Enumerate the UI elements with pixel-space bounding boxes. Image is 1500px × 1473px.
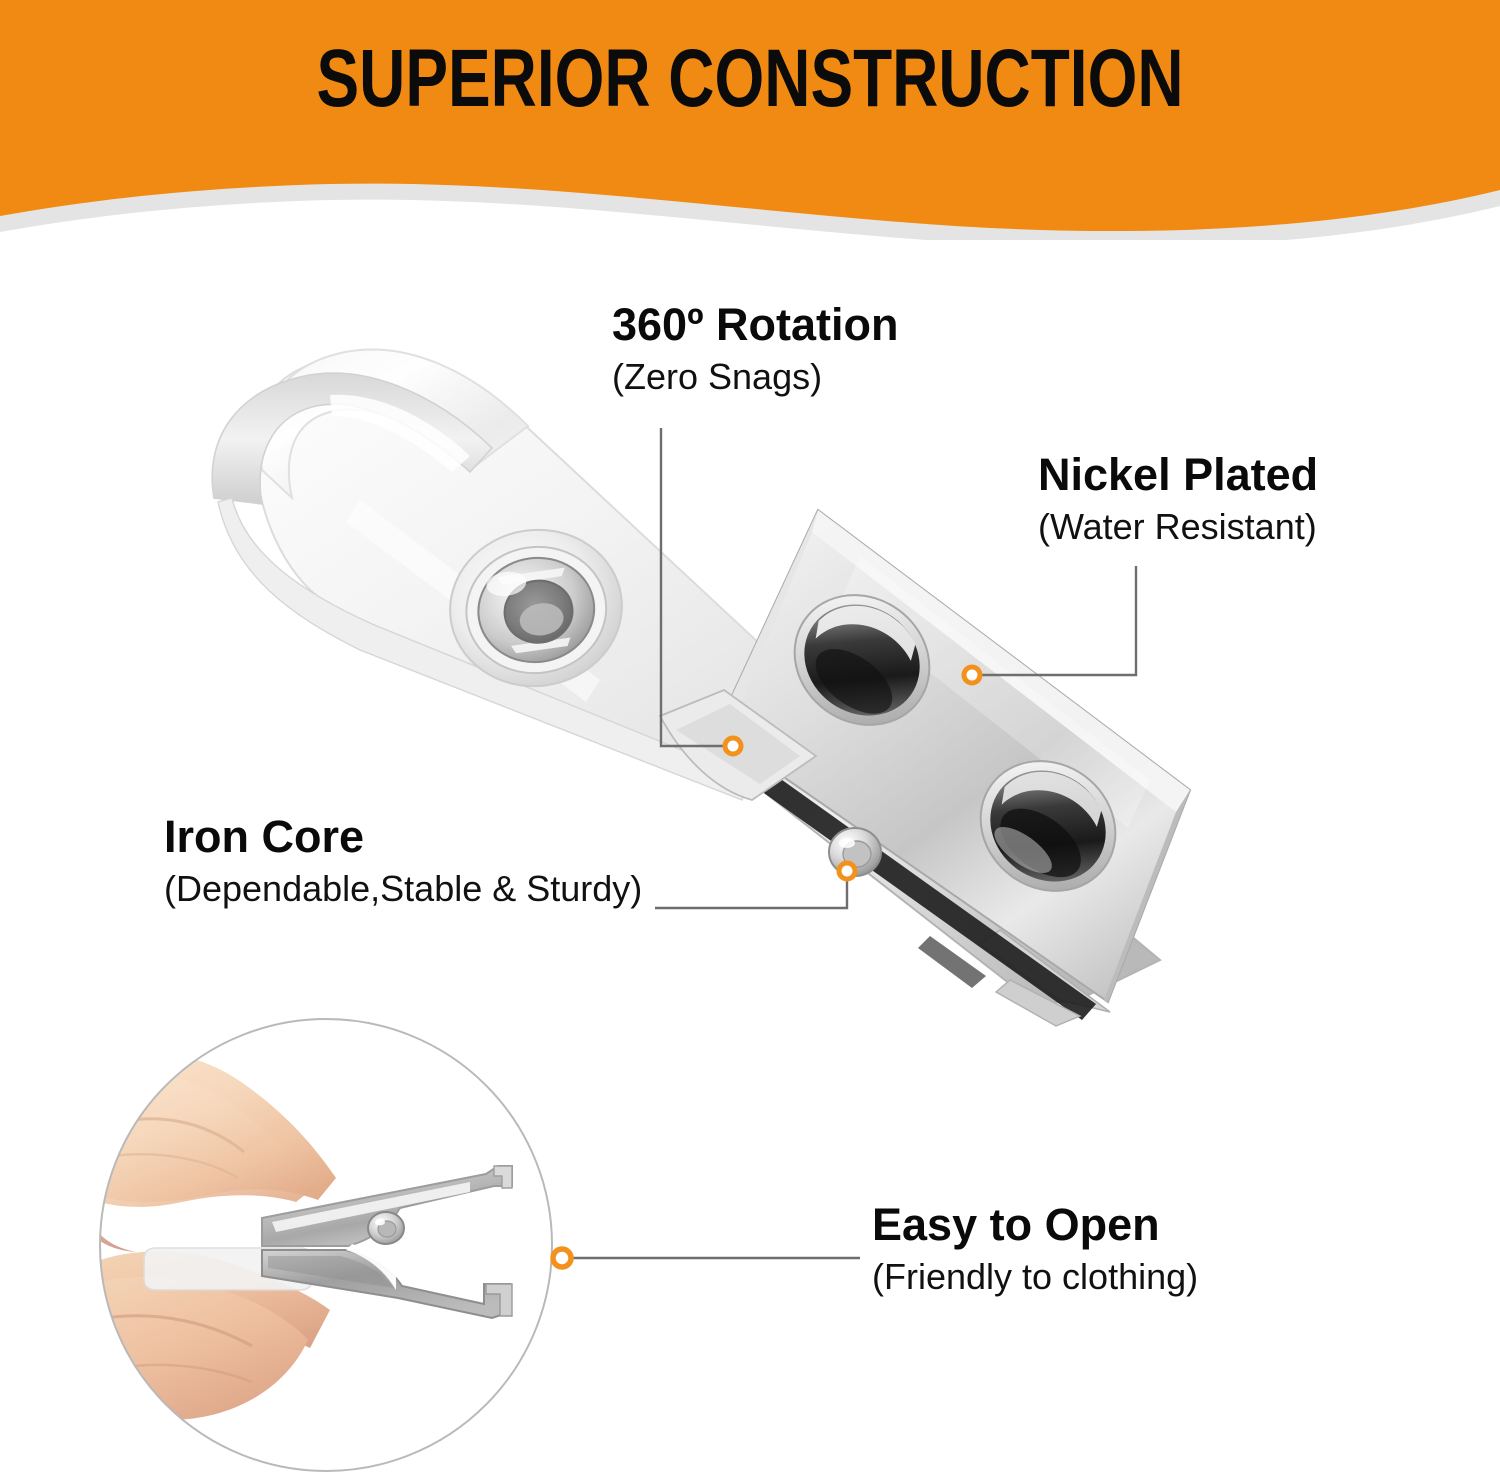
- callout-iron: Iron Core (Dependable,Stable & Sturdy): [164, 812, 642, 912]
- callout-nickel-title: Nickel Plated: [1038, 450, 1318, 500]
- callout-rotation: 360º Rotation (Zero Snags): [612, 300, 898, 400]
- callout-iron-title: Iron Core: [164, 812, 642, 862]
- inset-hinge-pin-glint: [375, 1219, 385, 1226]
- inset-hinge-pin: [368, 1212, 404, 1244]
- callout-easy: Easy to Open (Friendly to clothing): [872, 1200, 1198, 1300]
- infographic-page: SUPERIOR CONSTRUCTION: [0, 0, 1500, 1473]
- callout-easy-title: Easy to Open: [872, 1200, 1198, 1250]
- inset-photo-circle: [0, 0, 1500, 1473]
- callout-nickel: Nickel Plated (Water Resistant): [1038, 450, 1318, 550]
- callout-nickel-subtitle: (Water Resistant): [1038, 504, 1318, 550]
- inset-photo-content: [62, 1019, 552, 1471]
- callout-rotation-subtitle: (Zero Snags): [612, 354, 898, 400]
- callout-iron-subtitle: (Dependable,Stable & Sturdy): [164, 866, 642, 912]
- callout-easy-subtitle: (Friendly to clothing): [872, 1254, 1198, 1300]
- callout-rotation-title: 360º Rotation: [612, 300, 898, 350]
